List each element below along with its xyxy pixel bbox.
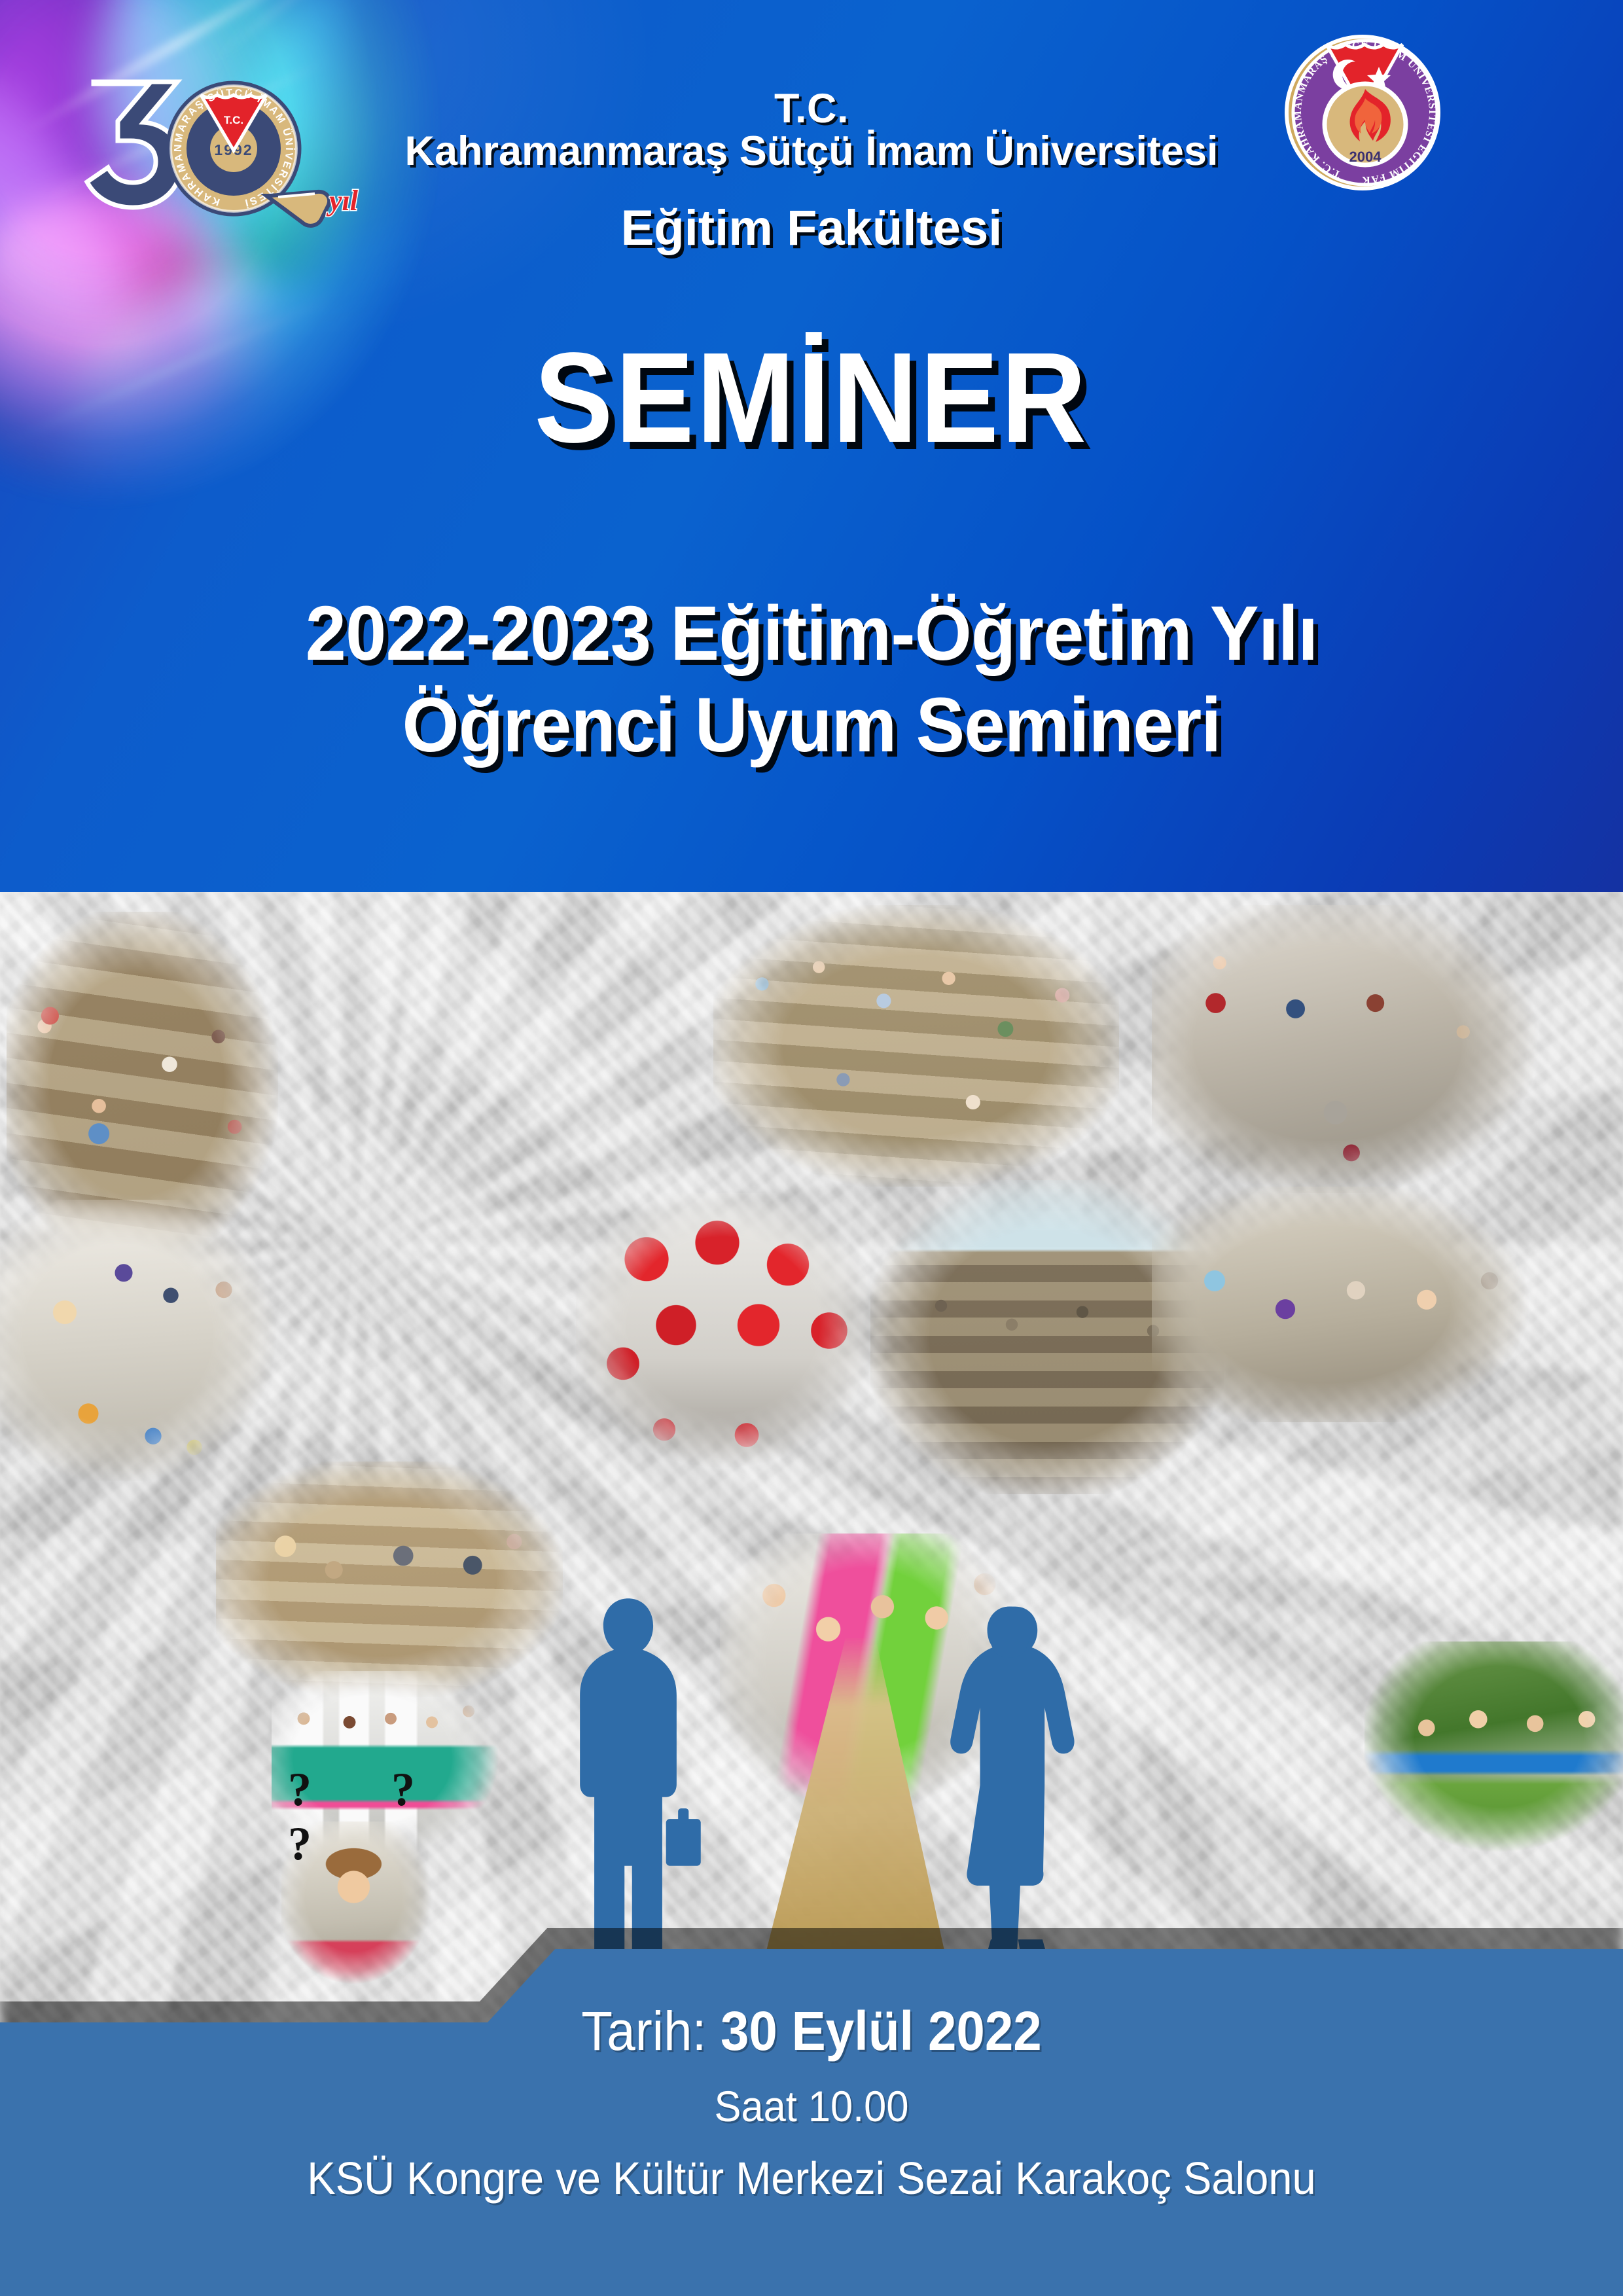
photo-students-on-grass — [1364, 1641, 1623, 1857]
subtitle-line-2: Öğrenci Uyum Semineri — [41, 681, 1582, 770]
date-value: 30 Eylül 2022 — [721, 2000, 1042, 2062]
photo-students-outdoors-notebooks — [0, 1200, 294, 1481]
logo-tail — [266, 192, 329, 226]
page-title: SEMİNER — [65, 324, 1558, 471]
question-mark-glyphs: ? ? ? — [288, 1763, 484, 1821]
subtitle-line-1: 2022-2023 Eğitim-Öğretim Yılı — [41, 589, 1582, 678]
silhouette-female-student — [936, 1602, 1083, 1975]
silhouette-male-student — [550, 1592, 707, 1985]
seal-tc-label: T.C. — [224, 114, 243, 126]
photo-students-headscarf-class — [1152, 1187, 1544, 1422]
photo-lecture-hall-seated — [713, 905, 1119, 1187]
event-venue: KSÜ Kongre ve Kültür Merkezi Sezai Karak… — [57, 2152, 1566, 2204]
photo-classroom-discussion — [1152, 905, 1551, 1193]
education-faculty-seal: T.C. KAHRAMANMARAŞ SÜTÇÜ İMAM ÜNİVERSİTE… — [1279, 26, 1446, 193]
seminar-poster: ? ? ? T.C. Kahra — [0, 0, 1623, 2296]
photo-collage-band: ? ? ? — [0, 892, 1623, 2064]
event-time: Saat 10.00 — [57, 2081, 1566, 2131]
date-label: Tarih: — [581, 2000, 706, 2062]
photo-red-balloons-flag — [576, 1193, 870, 1468]
photo-students-studying-desk — [216, 1462, 563, 1697]
logo-yil-label: yıl — [326, 185, 359, 217]
ksu-30th-anniversary-logo: 1992 T.C. KAHRAMANMARAŞ SÜTÇÜ İMAM ÜNİVE… — [62, 56, 389, 245]
faculty-center-year: 2004 — [1349, 149, 1382, 165]
event-date-line: Tarih: 30 Eylül 2022 — [57, 2000, 1566, 2063]
